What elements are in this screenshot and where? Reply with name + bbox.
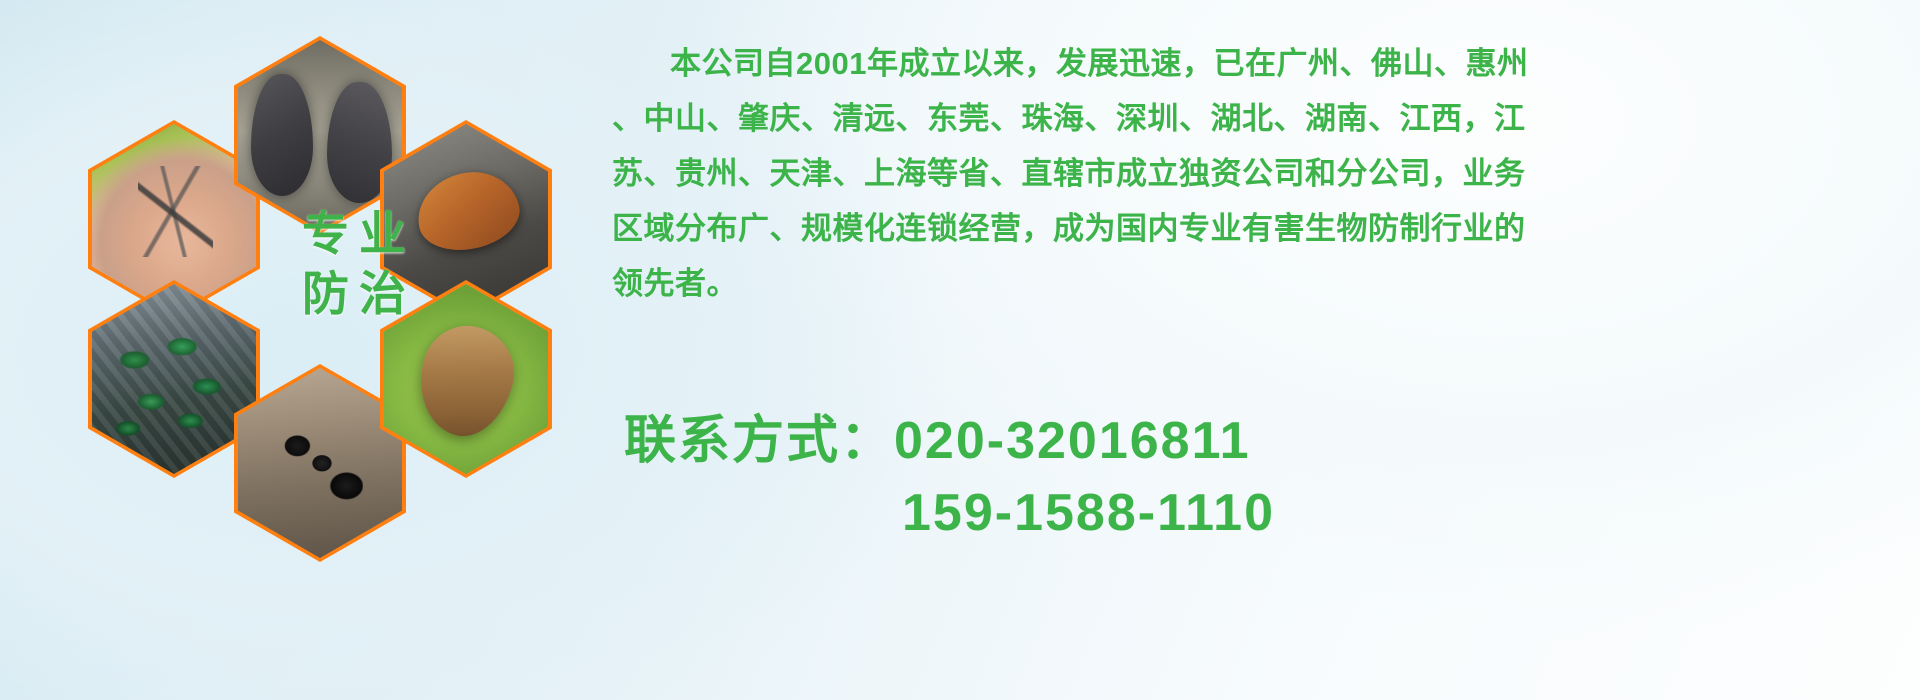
hex-inner <box>238 40 402 230</box>
flies-photo <box>92 284 256 474</box>
hex-caption-line2: 防治 <box>284 264 434 324</box>
company-description: 本公司自2001年成立以来，发展迅速，已在广州、佛山、惠州 、中山、肇庆、清远、… <box>612 36 1912 311</box>
contact-phone-secondary[interactable]: 159-1588-1110 <box>624 477 1914 549</box>
description-line-2: 、中山、肇庆、清远、东莞、珠海、深圳、湖北、湖南、江西，江 <box>612 91 1912 146</box>
contact-block: 联系方式：020-32016811 159-1588-1110 <box>624 405 1914 549</box>
banner-root: 专业 防治 本公司自2001年成立以来，发展迅速，已在广州、佛山、惠州 、中山、… <box>0 0 1920 700</box>
hex-photo-cluster: 专业 防治 <box>88 8 588 568</box>
description-line-1: 本公司自2001年成立以来，发展迅速，已在广州、佛山、惠州 <box>612 36 1912 91</box>
ant-photo <box>238 368 402 558</box>
hex-caption: 专业 防治 <box>284 204 434 324</box>
rats-photo <box>238 40 402 230</box>
hex-inner <box>238 368 402 558</box>
description-line-3: 苏、贵州、天津、上海等省、直辖市成立独资公司和分公司，业务 <box>612 146 1912 201</box>
description-line-4: 区域分布广、规模化连锁经营，成为国内专业有害生物防制行业的 <box>612 201 1912 256</box>
hex-caption-line1: 专业 <box>284 204 434 264</box>
contact-phone-primary[interactable]: 联系方式：020-32016811 <box>624 405 1914 477</box>
description-line-5: 领先者。 <box>612 256 1912 311</box>
hex-inner <box>92 284 256 474</box>
